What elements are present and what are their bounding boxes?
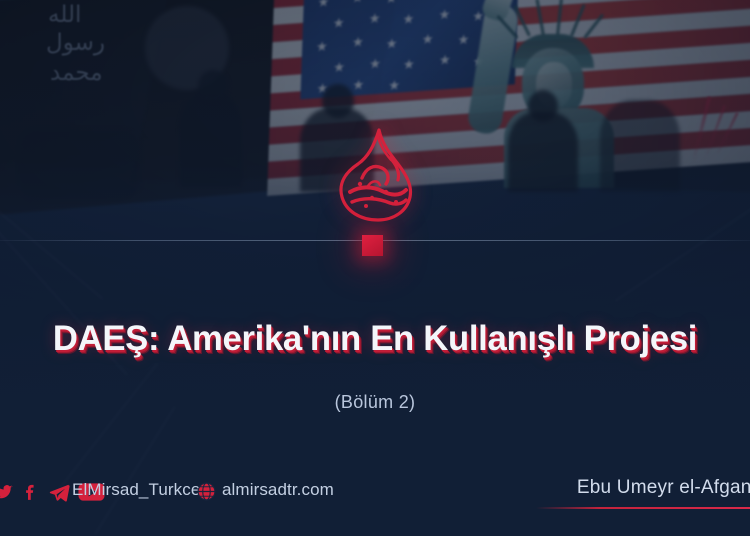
facebook-icon[interactable] — [21, 482, 41, 502]
author-name: Ebu Umeyr el-Afgani — [577, 477, 750, 499]
background-image: الله رسول محمد ★ ★ ★ ★ ★ ★ — [0, 0, 750, 536]
brand-logo — [0, 128, 750, 246]
background-tint — [0, 0, 750, 536]
globe-icon — [196, 481, 217, 507]
footer-bar: ElMirsad_Turkce almirsadtr.com Ebu Umeyr… — [0, 462, 750, 536]
poster-canvas: الله رسول محمد ★ ★ ★ ★ ★ ★ — [0, 0, 750, 536]
telegram-icon[interactable] — [48, 482, 71, 503]
author-underline — [536, 507, 750, 509]
al-mirsad-calligraphy-logo — [315, 128, 435, 224]
logo-square-accent — [362, 235, 383, 256]
page-subtitle: (Bölüm 2) — [0, 392, 750, 413]
page-title: DAEŞ: Amerika'nın En Kullanışlı Projesi — [4, 318, 747, 360]
website-url[interactable]: almirsadtr.com — [222, 480, 334, 500]
twitter-icon[interactable] — [0, 482, 14, 502]
social-handle[interactable]: ElMirsad_Turkce — [72, 480, 200, 500]
